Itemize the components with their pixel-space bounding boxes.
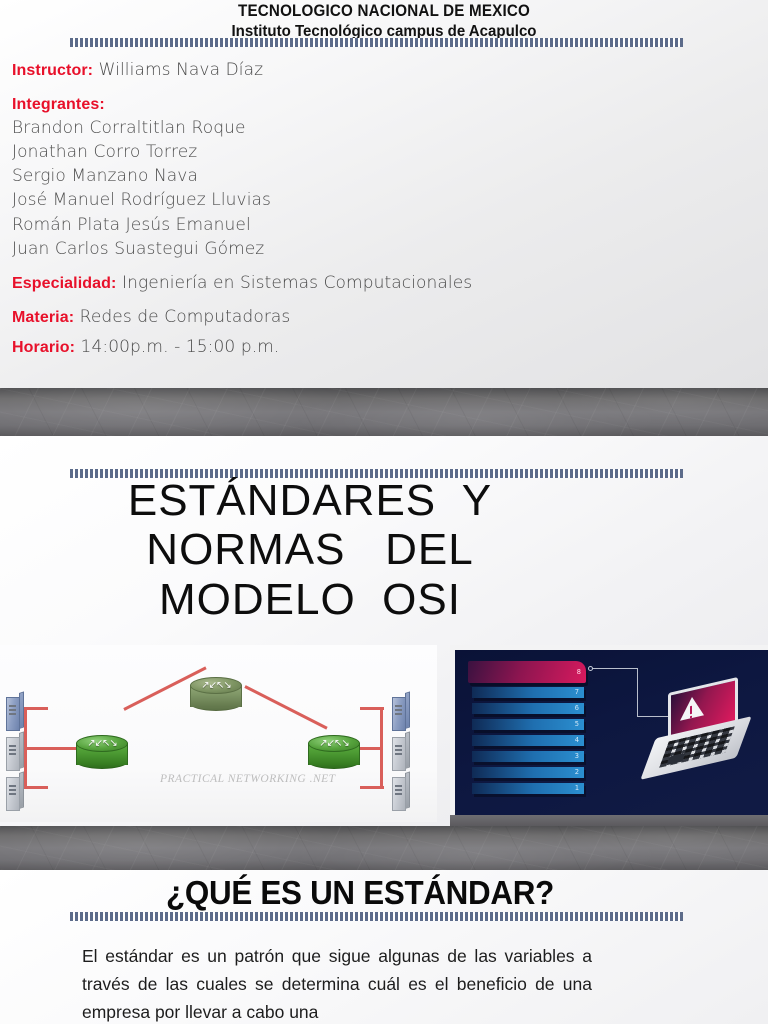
list-item: Brandon Corraltitlan Roque	[12, 116, 754, 140]
server-icon	[6, 733, 23, 771]
instructor-value: Williams Nava Díaz	[99, 60, 264, 80]
image-watermark: PRACTICAL NETWORKING .NET	[160, 773, 336, 785]
materia-label: Materia:	[12, 309, 74, 326]
server-icon	[6, 773, 23, 811]
osi-layer: 4	[472, 735, 584, 746]
server-icon	[392, 733, 409, 771]
section-heading: ¿QUÉ ES UN ESTÁNDAR?	[18, 874, 702, 912]
slide-cover: TECNOLOGICO NACIONAL DE MEXICO Instituto…	[0, 0, 768, 388]
list-item: Juan Carlos Suastegui Gómez	[12, 237, 754, 261]
spacer	[12, 82, 754, 96]
server-icon	[392, 773, 409, 811]
osi-layer-number: 6	[575, 703, 579, 714]
institution-line-1: TECNOLOGICO NACIONAL DE MEXICO	[31, 2, 738, 21]
osi-layer: 7	[472, 687, 584, 698]
osi-layer-number: 3	[575, 751, 579, 762]
network-topology-image: ↗↙↖↘ ↗↙↖↘ ↗↙↖↘ PRACTICAL NETWORKING .NET	[0, 645, 437, 822]
network-link	[380, 707, 383, 789]
osi-layer: 1	[472, 783, 584, 794]
server-icon	[6, 693, 23, 731]
decorative-striped-rule	[70, 38, 683, 47]
osi-layer: 8	[468, 661, 586, 683]
osi-layer: 2	[472, 767, 584, 778]
instructor-field: Instructor: Williams Nava Díaz	[12, 62, 754, 79]
stone-divider-band	[0, 826, 768, 870]
network-link	[24, 786, 48, 789]
especialidad-field: Especialidad: Ingeniería en Sistemas Com…	[12, 275, 754, 292]
institution-header: TECNOLOGICO NACIONAL DE MEXICO Instituto…	[0, 0, 768, 41]
integrantes-label: Integrantes:	[12, 96, 105, 113]
osi-layer-number: 1	[575, 783, 579, 794]
integrantes-list: Brandon Corraltitlan Roque Jonathan Corr…	[12, 116, 754, 261]
title-line-2: NORMAS DEL	[0, 525, 620, 574]
osi-layer-stack: 8 7 6 5 4 3 2 1	[472, 661, 622, 809]
image-frame-left	[450, 645, 455, 826]
especialidad-value: Ingeniería en Sistemas Computacionales	[122, 273, 472, 293]
router-icon: ↗↙↖↘	[308, 735, 360, 769]
osi-layer: 6	[472, 703, 584, 714]
title-line-3: MODELO OSI	[0, 575, 620, 624]
image-strip: ↗↙↖↘ ↗↙↖↘ ↗↙↖↘ PRACTICAL NETWORKING .NET…	[0, 645, 768, 826]
horario-field: Horario: 14:00p.m. - 15:00 p.m.	[12, 339, 754, 356]
body-paragraph: El estándar es un patrón que sigue algun…	[82, 942, 592, 1024]
slide-que-es-un-estandar: ¿QUÉ ES UN ESTÁNDAR? El estándar es un p…	[0, 870, 768, 1024]
connector-line	[637, 668, 638, 717]
list-item: Román Plata Jesús Emanuel	[12, 213, 754, 237]
image-frame-top	[450, 645, 768, 650]
osi-layer-number: 4	[575, 735, 579, 746]
list-item: Jonathan Corro Torrez	[12, 140, 754, 164]
title-line-1: ESTÁNDARES Y	[0, 476, 620, 525]
integrantes-field: Integrantes:	[12, 96, 754, 113]
list-item: Sergio Manzano Nava	[12, 164, 754, 188]
horario-value: 14:00p.m. - 15:00 p.m.	[81, 337, 280, 357]
presentation-page: TECNOLOGICO NACIONAL DE MEXICO Instituto…	[0, 0, 768, 1024]
osi-layer-number: 8	[577, 661, 581, 683]
osi-layer-number: 7	[575, 687, 579, 698]
router-icon: ↗↙↖↘	[190, 677, 242, 711]
network-link	[360, 786, 384, 789]
laptop-icon	[646, 685, 750, 773]
warning-bar	[690, 706, 692, 714]
decorative-striped-rule	[70, 912, 683, 921]
materia-value: Redes de Computadoras	[80, 307, 291, 327]
network-link	[244, 685, 327, 729]
image-floor-band	[450, 815, 768, 826]
especialidad-label: Especialidad:	[12, 275, 116, 292]
materia-field: Materia: Redes de Computadoras	[12, 309, 754, 326]
network-link	[24, 707, 48, 710]
list-item: José Manuel Rodríguez Lluvias	[12, 188, 754, 212]
osi-layer: 3	[472, 751, 584, 762]
connector-line	[591, 668, 638, 669]
osi-layer: 5	[472, 719, 584, 730]
cover-details: Instructor: Williams Nava Díaz Integrant…	[12, 62, 754, 359]
stone-divider-band	[0, 388, 768, 436]
osi-layer-number: 2	[575, 767, 579, 778]
server-icon	[392, 693, 409, 731]
instructor-label: Instructor:	[12, 62, 93, 79]
slide-title: ESTÁNDARES Y NORMAS DEL MODELO OSI	[0, 436, 768, 826]
connector-dot	[588, 666, 593, 671]
osi-layer-number: 5	[575, 719, 579, 730]
page-title: ESTÁNDARES Y NORMAS DEL MODELO OSI	[0, 476, 620, 624]
horario-label: Horario:	[12, 339, 75, 356]
network-link	[24, 747, 76, 750]
osi-stack-image: 8 7 6 5 4 3 2 1	[450, 645, 768, 826]
network-link	[360, 707, 384, 710]
router-icon: ↗↙↖↘	[76, 735, 128, 769]
